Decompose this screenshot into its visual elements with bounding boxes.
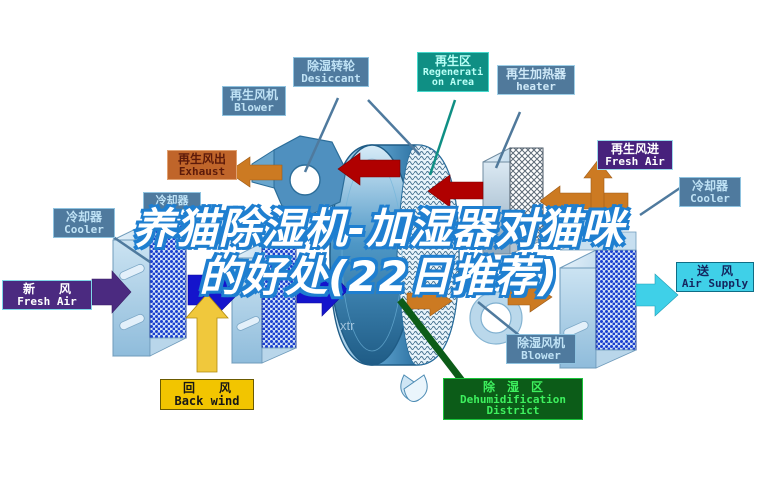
label-regen-blower-cn: 再生风机 bbox=[226, 89, 282, 102]
label-dehum-blower-en: Blower bbox=[510, 350, 572, 362]
label-fresh-air: 新 风 Fresh Air bbox=[2, 280, 92, 310]
label-cooler-right-cn: 冷却器 bbox=[683, 180, 737, 193]
label-desiccant-cn: 除湿转轮 bbox=[297, 60, 365, 73]
watermark-text: xtr bbox=[340, 318, 355, 333]
label-back-wind: 回 风 Back wind bbox=[160, 379, 254, 410]
label-cooler-right: 冷却器 Cooler bbox=[679, 177, 741, 207]
label-dehum-district-cn: 除 湿 区 bbox=[447, 381, 579, 394]
upper-supply-block bbox=[560, 232, 636, 250]
arrow-regen-air-to-heater bbox=[540, 186, 628, 216]
diagram-canvas: xtr 除湿转轮 Desiccant 再生风机 Blower 再生风出 Exha… bbox=[0, 0, 757, 488]
label-regeneration-area: 再生区 Regenerati on Area bbox=[417, 52, 489, 92]
label-dehum-blower: 除湿风机 Blower bbox=[506, 334, 576, 364]
label-fresh-air-en: Fresh Air bbox=[6, 296, 88, 308]
label-air-supply: 送 风 Air Supply bbox=[676, 262, 754, 292]
diagram-graphics: xtr bbox=[0, 0, 757, 488]
label-regeneration-area-cn: 再生区 bbox=[421, 55, 485, 68]
label-regeneration-area-en: Regenerati on Area bbox=[421, 68, 485, 89]
label-exhaust-en: Exhaust bbox=[171, 166, 233, 178]
label-air-supply-cn: 送 风 bbox=[680, 265, 750, 278]
label-cooler-left-2: 冷却器 bbox=[143, 192, 201, 210]
label-regen-heater: 再生加热器 heater bbox=[497, 65, 575, 95]
label-dehum-district-en: Dehumidification District bbox=[447, 394, 579, 417]
label-dehumidification-district: 除 湿 区 Dehumidification District bbox=[443, 378, 583, 420]
label-regen-heater-en: heater bbox=[501, 81, 571, 93]
label-desiccant: 除湿转轮 Desiccant bbox=[293, 57, 369, 87]
arrow-air-supply bbox=[636, 274, 678, 316]
label-cooler-left-cn: 冷却器 bbox=[57, 211, 111, 224]
label-exhaust-cn: 再生风出 bbox=[171, 153, 233, 166]
label-cooler-left-en: Cooler bbox=[57, 224, 111, 236]
cooler-block-left-2 bbox=[232, 243, 296, 363]
label-dehum-blower-cn: 除湿风机 bbox=[510, 337, 572, 350]
label-cooler-right-en: Cooler bbox=[683, 193, 737, 205]
label-regen-fresh-air-en: Fresh Air bbox=[601, 156, 669, 168]
label-regen-heater-cn: 再生加热器 bbox=[501, 68, 571, 81]
label-regen-fresh-air: 再生风进 Fresh Air bbox=[597, 140, 673, 170]
label-regen-blower: 再生风机 Blower bbox=[222, 86, 286, 116]
label-back-wind-en: Back wind bbox=[164, 395, 250, 408]
label-regen-fresh-air-cn: 再生风进 bbox=[601, 143, 669, 156]
label-back-wind-cn: 回 风 bbox=[164, 382, 250, 395]
label-regen-blower-en: Blower bbox=[226, 102, 282, 114]
regeneration-heater-block bbox=[483, 148, 543, 254]
label-cooler-left-2-cn: 冷却器 bbox=[147, 195, 197, 207]
label-desiccant-en: Desiccant bbox=[297, 73, 365, 85]
label-air-supply-en: Air Supply bbox=[680, 278, 750, 290]
label-fresh-air-cn: 新 风 bbox=[6, 283, 88, 296]
label-cooler-left: 冷却器 Cooler bbox=[53, 208, 115, 238]
label-exhaust: 再生风出 Exhaust bbox=[167, 150, 237, 180]
